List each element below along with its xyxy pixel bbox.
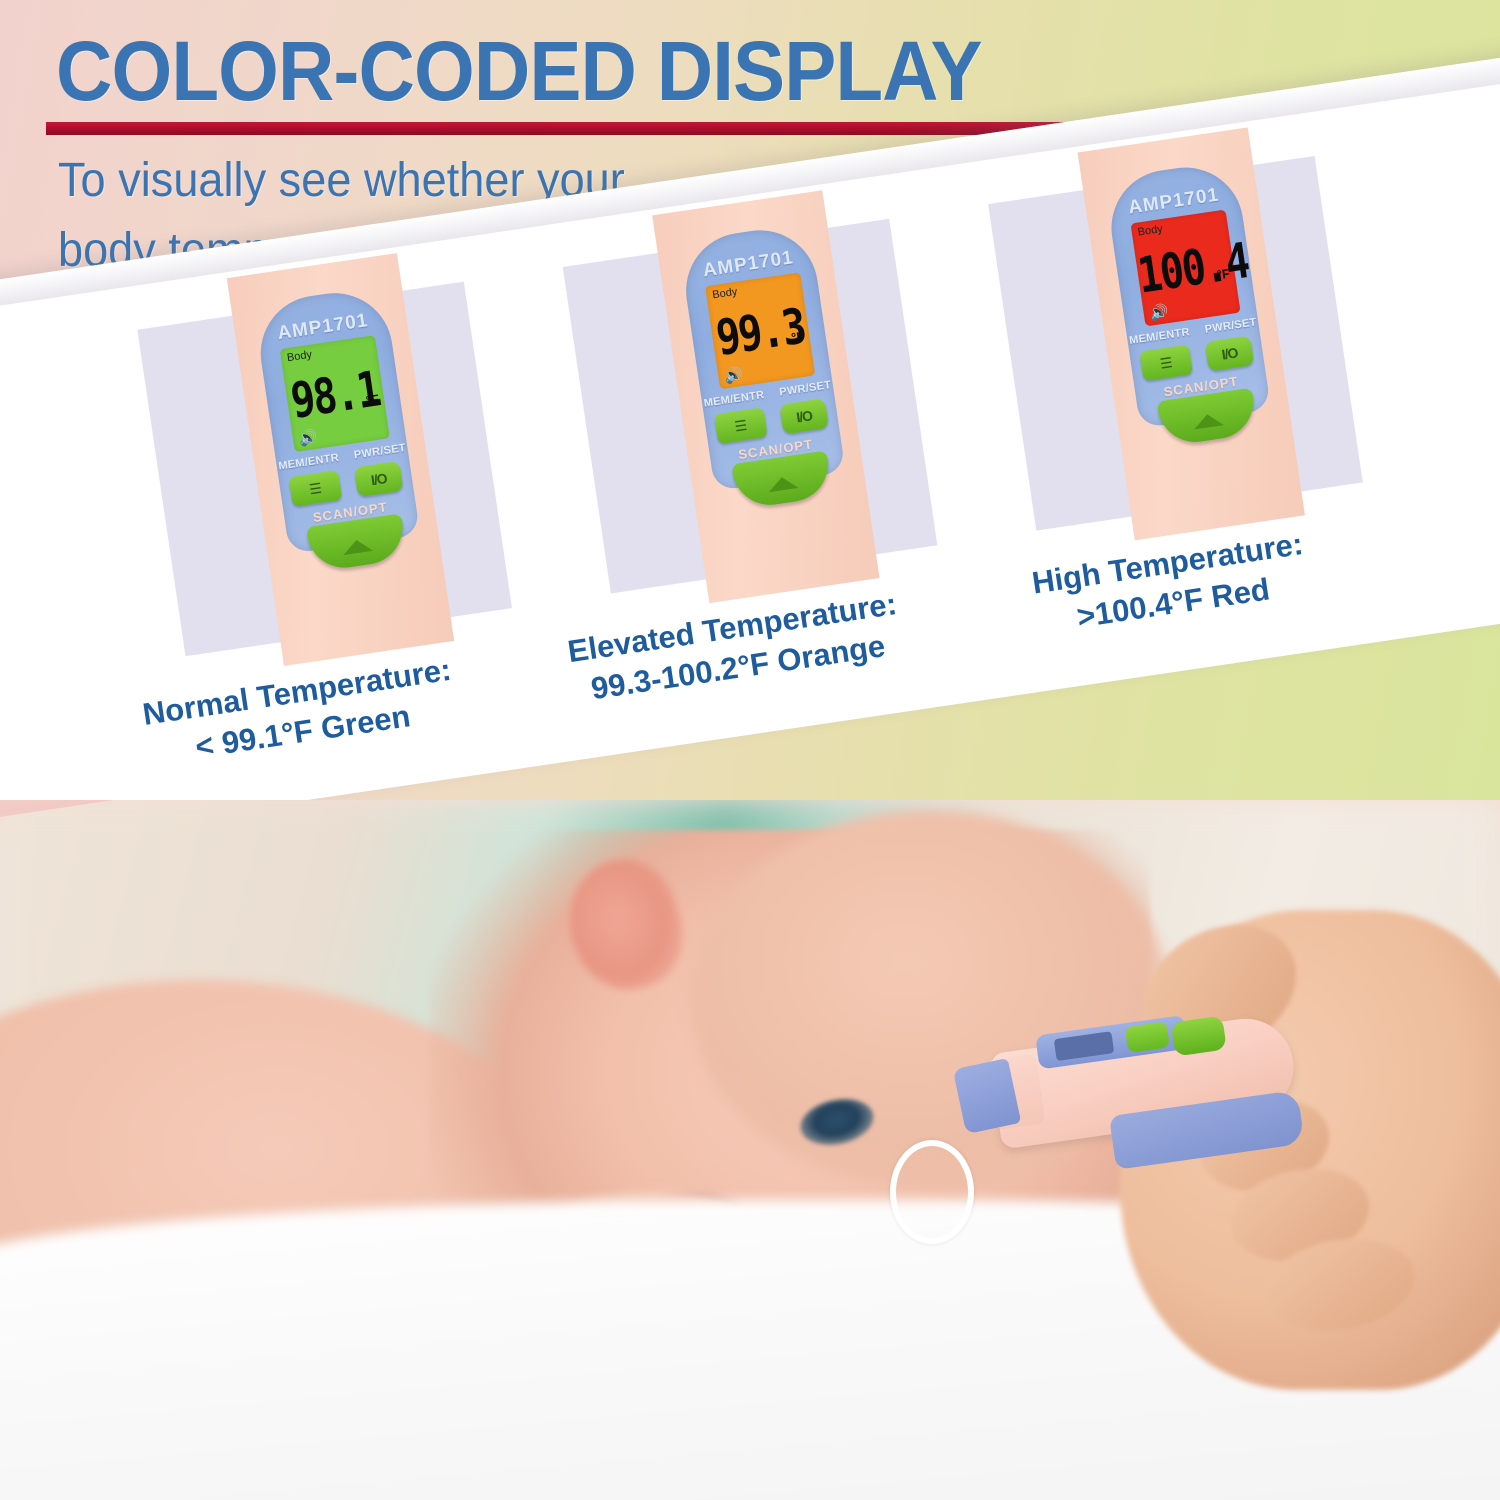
triangle-up-icon <box>341 537 373 554</box>
lcd-mode-label: Body <box>1137 223 1164 239</box>
page-title: COLOR-CODED DISPLAY <box>56 28 982 114</box>
triangle-up-icon <box>767 475 799 492</box>
speaker-icon: 🔊 <box>723 367 744 385</box>
measurement-target-ring <box>890 1140 974 1244</box>
panel-elevated: AMP1701 Body 99.3 °F 🔊 MEM/ENTR PWR/SET … <box>563 219 938 594</box>
product-feature-graphic: COLOR-CODED DISPLAY To visually see whet… <box>0 0 1500 1500</box>
panel-high: AMP1701 Body 100.4 °F 🔊 MEM/ENTR PWR/SET… <box>988 156 1363 531</box>
header-band: COLOR-CODED DISPLAY To visually see whet… <box>0 0 1500 860</box>
lcd-unit-label: °F <box>1216 266 1231 283</box>
lcd-mode-label: Body <box>286 349 313 365</box>
lcd-screen: Body 99.3 °F 🔊 <box>705 272 815 389</box>
triangle-up-icon <box>1192 412 1224 429</box>
lifestyle-photo <box>0 800 1500 1500</box>
speaker-icon: 🔊 <box>298 430 319 448</box>
lcd-mode-label: Body <box>712 286 739 302</box>
lcd-unit-label: °F <box>365 391 380 408</box>
title-underline-rule <box>46 122 1136 135</box>
lcd-screen: Body 98.1 °F 🔊 <box>280 335 390 452</box>
speaker-icon: 🔊 <box>1149 304 1170 322</box>
lcd-unit-label: °F <box>790 329 805 346</box>
panel-normal: AMP1701 Body 98.1 °F 🔊 MEM/ENTR PWR/SET … <box>137 282 512 657</box>
lcd-screen: Body 100.4 °F 🔊 <box>1130 210 1240 327</box>
